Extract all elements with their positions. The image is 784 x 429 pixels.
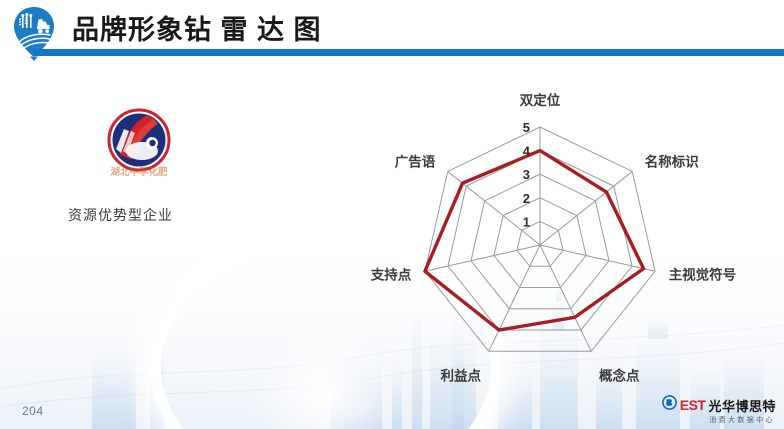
radar-tick-5: 5 (523, 120, 530, 135)
page-number: 204 (22, 404, 44, 418)
header-accent-rule (33, 49, 784, 56)
page-title: 品牌形象钻 雷 达 图 (72, 8, 322, 47)
slide-canvas: 品牌形象钻 雷 达 图 湖北中孚化肥 资源优势型企业 12345 双定位名称标识… (0, 0, 784, 429)
radar-spoke (489, 245, 540, 351)
radar-axis-label-0: 双定位 (520, 92, 561, 108)
radar-axis-label-6: 广告语 (395, 153, 436, 169)
radar-tick-2: 2 (523, 191, 530, 206)
radar-tick-4: 4 (523, 144, 531, 159)
radar-tick-labels: 12345 (523, 120, 531, 229)
radar-axis-label-1: 名称标识 (645, 153, 699, 169)
radar-tick-3: 3 (523, 167, 530, 182)
brand-est-text: EST (680, 397, 706, 413)
radar-spokes (425, 127, 655, 351)
svg-text:湖北中孚化肥: 湖北中孚化肥 (110, 166, 168, 178)
radar-spoke (540, 245, 591, 351)
radar-axis-labels: 双定位名称标识主视觉符号概念点利益点支持点广告语 (370, 92, 736, 382)
company-descriptor: 资源优势型企业 (68, 205, 173, 225)
radar-axis-label-5: 支持点 (370, 266, 412, 282)
radar-axis-label-4: 利益点 (440, 368, 481, 382)
radar-axis-label-2: 主视觉符号 (669, 266, 737, 282)
company-circular-logo: 湖北中孚化肥 (96, 107, 182, 179)
slide-header: 品牌形象钻 雷 达 图 (0, 0, 784, 62)
footer-brand: EST 光华博思特 消费大数据中心 (658, 398, 776, 424)
radar-tick-1: 1 (523, 214, 530, 229)
radar-axis-label-3: 概念点 (599, 368, 640, 382)
brand-cn-text: 光华博思特 (708, 396, 776, 415)
brand-subtitle: 消费大数据中心 (709, 415, 775, 425)
radar-chart: 12345 双定位名称标识主视觉符号概念点利益点支持点广告语 (355, 82, 775, 382)
best-logo-icon (662, 395, 677, 415)
